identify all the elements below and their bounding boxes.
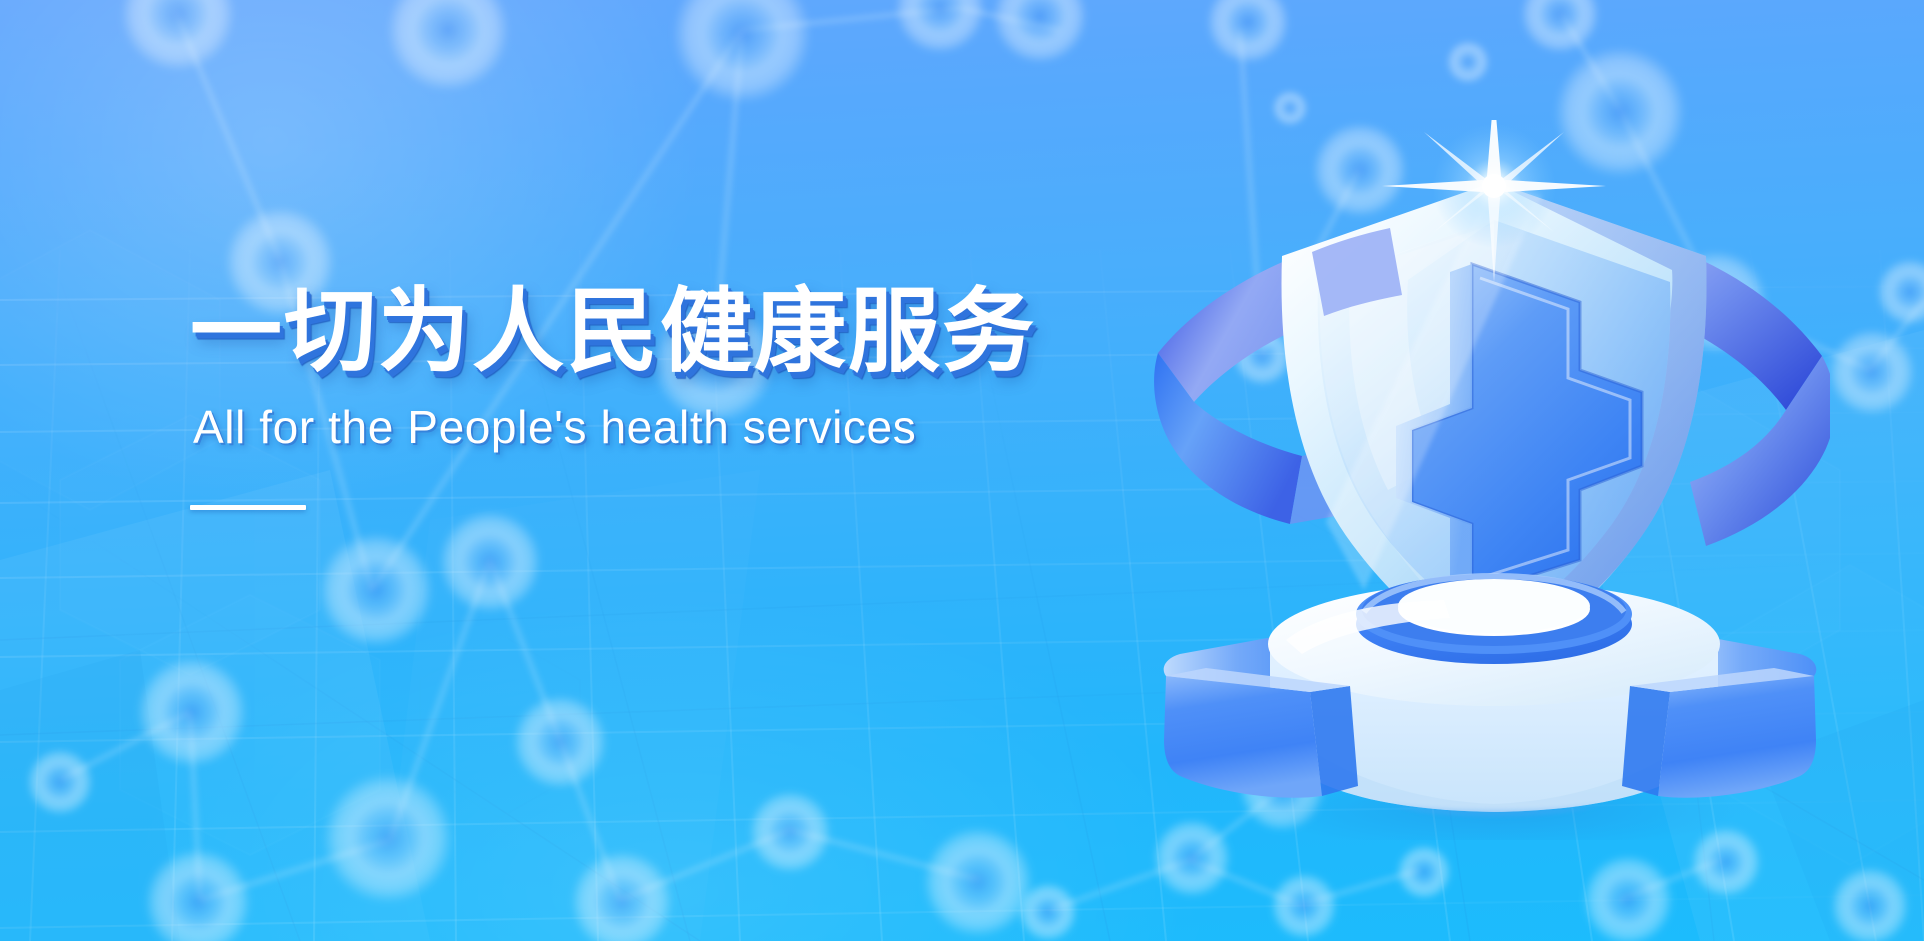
pedestal <box>1164 574 1817 816</box>
health-promo-banner: 一切为人民健康服务 All for the People's health se… <box>0 0 1924 941</box>
banner-subheadline: All for the People's health services <box>193 402 1190 453</box>
divider-rule <box>190 505 306 510</box>
banner-headline: 一切为人民健康服务 <box>190 283 1190 382</box>
background-glow-bottom <box>120 581 1220 941</box>
banner-copy: 一切为人民健康服务 All for the People's health se… <box>190 283 1190 510</box>
shield-artwork <box>1150 120 1830 840</box>
